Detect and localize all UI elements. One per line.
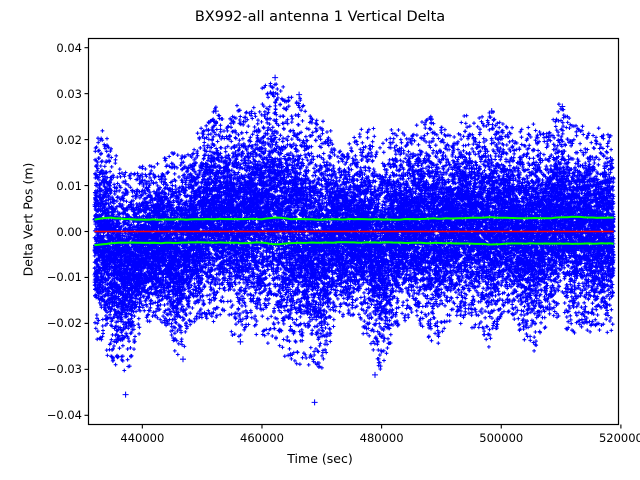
y-tick-label: −0.04 [18,408,82,422]
y-tick-label: 0.04 [18,41,82,55]
plot-area[interactable] [0,0,640,480]
scatter-series-layer [93,75,616,406]
figure-canvas: BX992-all antenna 1 Vertical Delta −0.04… [0,0,640,480]
x-tick-label: 460000 [240,431,284,445]
x-tick-label: 520000 [599,431,640,445]
x-tick-label: 440000 [120,431,164,445]
y-tick-label: −0.03 [18,362,82,376]
scatter-points [93,75,616,406]
y-tick-label: 0.03 [18,87,82,101]
y-axis-label: Delta Vert Pos (m) [21,110,36,330]
x-tick-label: 480000 [360,431,404,445]
x-tick-label: 500000 [479,431,523,445]
x-axis-label: Time (sec) [0,451,640,466]
